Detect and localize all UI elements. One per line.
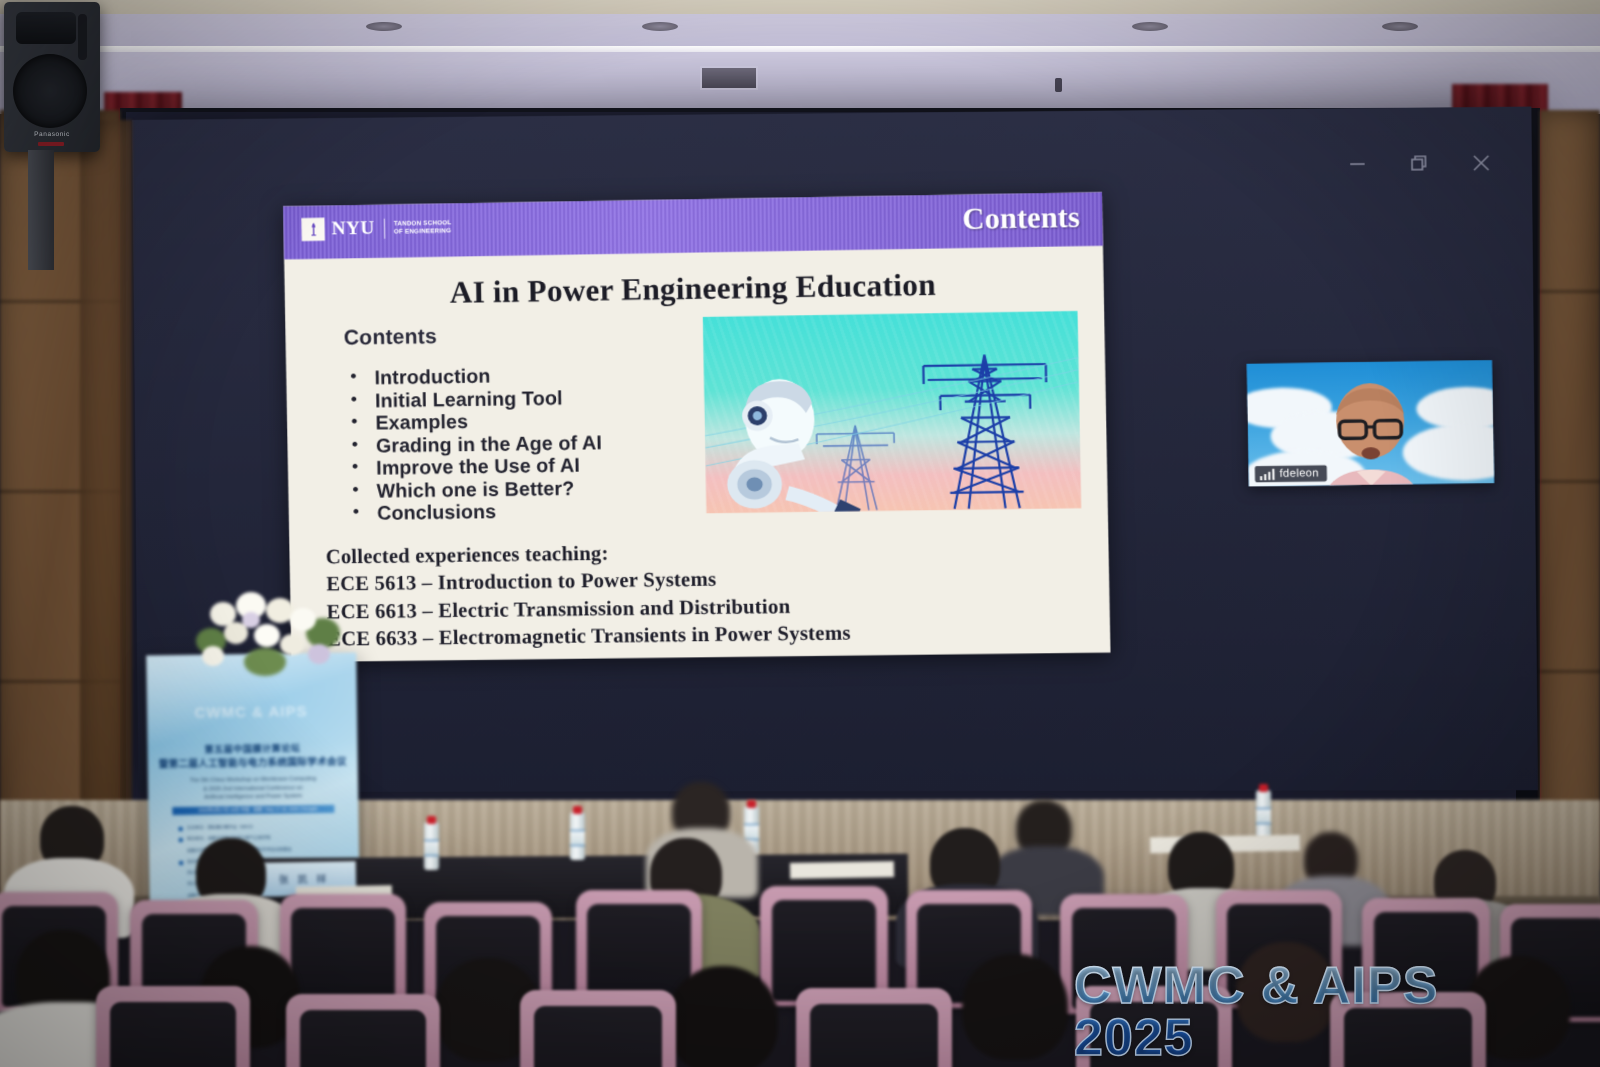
nyu-tandon-logo: NYU TANDON SCHOOL OF ENGINEERING bbox=[301, 215, 451, 241]
audience-head-foreground bbox=[962, 954, 1068, 1060]
event-watermark-text: CWMC & AIPS 2025 bbox=[1074, 960, 1544, 1064]
window-controls bbox=[1346, 152, 1493, 176]
seat bbox=[520, 990, 676, 1067]
audience-head-foreground bbox=[668, 966, 778, 1067]
course-item: ECE 6633 – Electromagnetic Transients in… bbox=[327, 620, 851, 654]
speaker-brand-label: Panasonic bbox=[4, 131, 100, 138]
ceiling-air-vent bbox=[700, 66, 758, 90]
event-watermark: CWMC & AIPS 2025 bbox=[1074, 960, 1544, 1067]
school-line-2: OF ENGINEERING bbox=[394, 227, 452, 236]
banner-watermark: CWMC & AIPS bbox=[161, 703, 341, 723]
hall-column-right bbox=[1540, 110, 1600, 870]
speaker-stand bbox=[28, 150, 54, 270]
participant-video-tile[interactable]: fdeleon bbox=[1247, 360, 1495, 486]
humanoid-robot-icon bbox=[712, 366, 867, 513]
ceiling-downlight bbox=[366, 22, 402, 31]
screenshot-root: NYU TANDON SCHOOL OF ENGINEERING Content… bbox=[0, 0, 1600, 1067]
seat bbox=[286, 994, 440, 1067]
seat bbox=[796, 988, 952, 1067]
close-icon[interactable] bbox=[1470, 152, 1493, 175]
participant-name: fdeleon bbox=[1280, 467, 1320, 480]
speaker-woofer-grille bbox=[13, 54, 87, 128]
nyu-wordmark: NYU bbox=[332, 217, 375, 240]
hall-column-left-inner bbox=[80, 120, 132, 880]
restore-window-icon[interactable] bbox=[1408, 152, 1431, 175]
teaching-experience-block: Collected experiences teaching: ECE 5613… bbox=[325, 538, 850, 654]
flower-arrangement bbox=[188, 588, 348, 683]
slide-header-band: NYU TANDON SCHOOL OF ENGINEERING Content… bbox=[283, 192, 1103, 259]
slide-section-title: Contents bbox=[962, 201, 1080, 237]
banner-chinese-line-2: 暨第二届人工智能与电力系统国际学术会议 bbox=[148, 754, 358, 771]
speaker-port bbox=[78, 14, 87, 60]
seat bbox=[96, 986, 250, 1067]
speaker-brand-accent bbox=[38, 142, 64, 146]
ceiling-downlight bbox=[1132, 22, 1168, 31]
slide-body: Contents Introduction Initial Learning T… bbox=[285, 300, 1108, 526]
ceiling-downlight bbox=[1382, 22, 1418, 31]
nyu-school-name: TANDON SCHOOL OF ENGINEERING bbox=[394, 219, 452, 236]
presentation-slide: NYU TANDON SCHOOL OF ENGINEERING Content… bbox=[283, 192, 1110, 662]
logo-divider bbox=[383, 218, 384, 238]
slide-illustration bbox=[703, 311, 1081, 513]
pa-speaker-cabinet: Panasonic bbox=[4, 2, 100, 152]
signal-strength-icon bbox=[1260, 468, 1275, 479]
ceiling-panel-a bbox=[0, 14, 1600, 48]
nyu-torch-icon bbox=[301, 218, 325, 241]
ceiling-panel-b bbox=[0, 52, 1600, 114]
participant-name-badge: fdeleon bbox=[1255, 465, 1328, 482]
ceiling-sensor bbox=[1055, 78, 1062, 92]
ceiling-downlight bbox=[642, 22, 678, 31]
minimize-icon[interactable] bbox=[1346, 153, 1369, 176]
speaker-horn bbox=[16, 12, 76, 44]
